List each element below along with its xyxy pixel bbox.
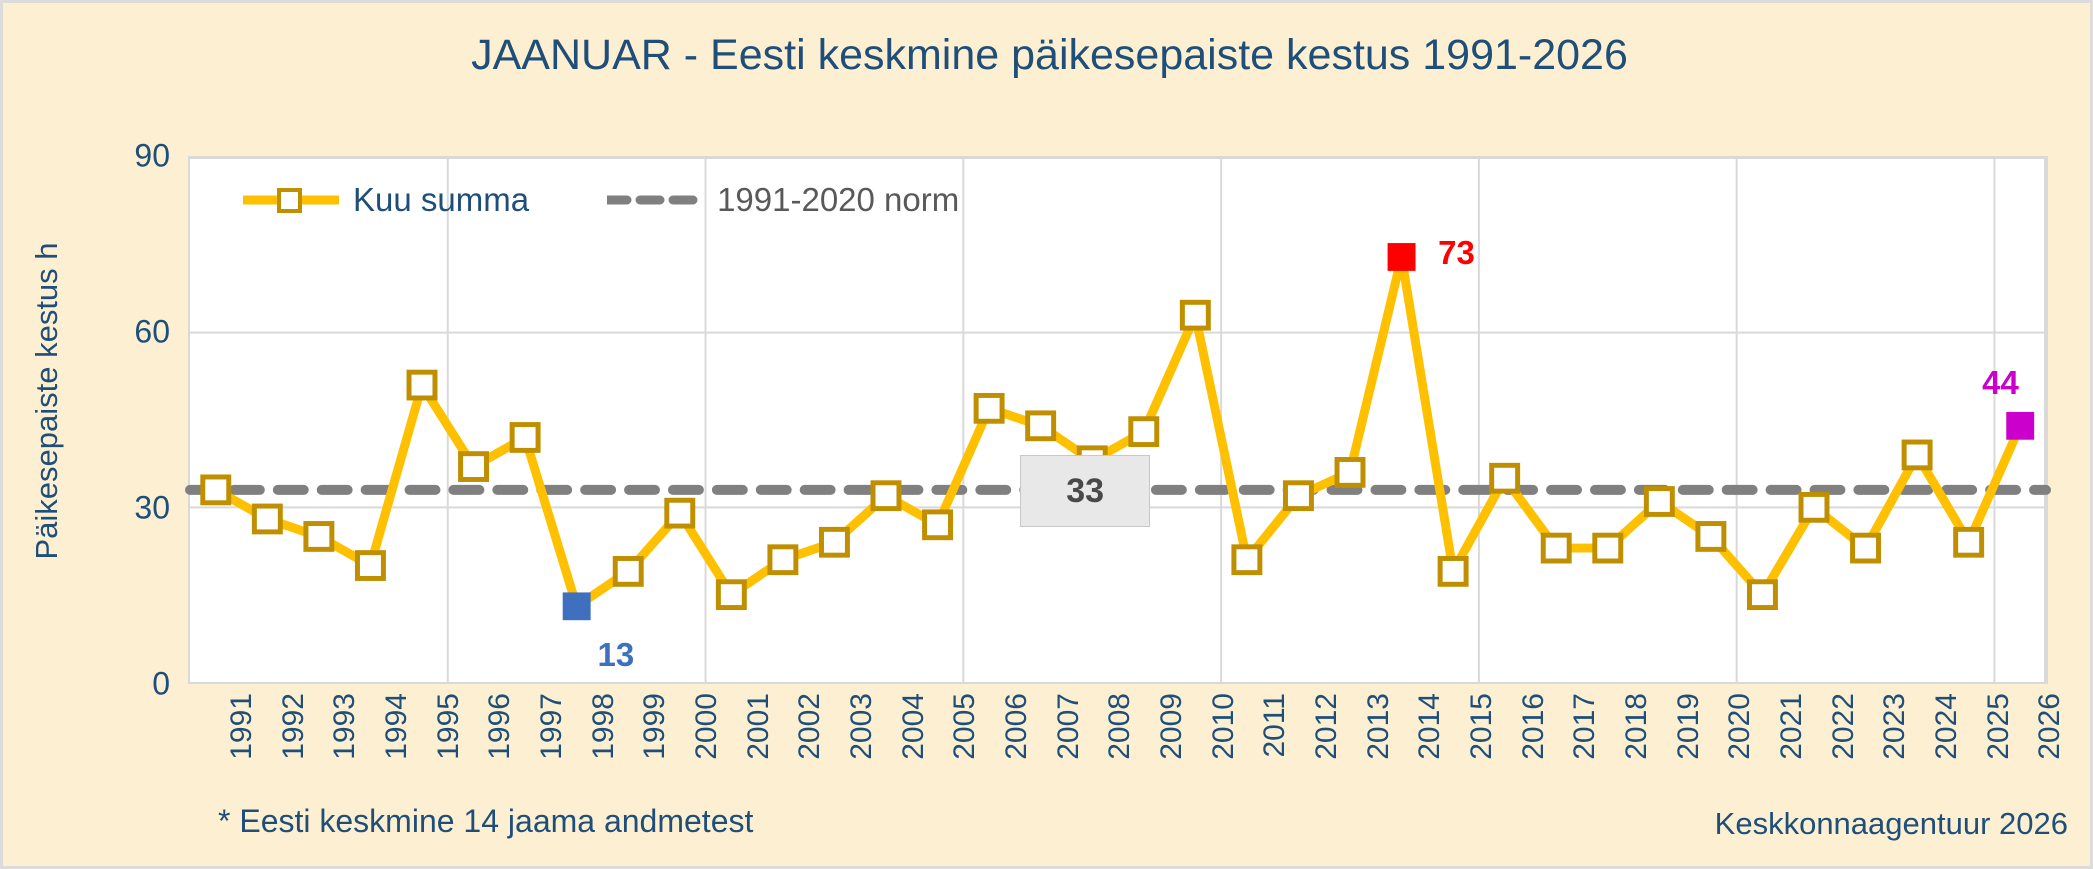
series-line-kuu-summa (216, 257, 2020, 606)
data-marker (461, 454, 487, 480)
y-tick-label: 0 (58, 666, 170, 703)
data-marker (1337, 459, 1363, 485)
data-marker (409, 372, 435, 398)
x-tick-label: 2011 (1258, 693, 1292, 758)
x-tick-label: 2020 (1723, 693, 1757, 760)
annotation-minimum-label: 13 (598, 636, 635, 674)
x-tick-label: 1991 (225, 693, 259, 760)
x-tick-label: 2013 (1362, 693, 1396, 760)
data-marker (615, 558, 641, 584)
x-tick-label: 1993 (328, 693, 362, 760)
plot-area (188, 156, 2048, 684)
data-marker (1182, 302, 1208, 328)
data-marker (925, 512, 951, 538)
data-marker (821, 529, 847, 555)
data-marker (203, 477, 229, 503)
x-tick-label: 2010 (1207, 693, 1241, 760)
y-tick-label: 30 (58, 490, 170, 527)
y-tick-label: 60 (58, 314, 170, 351)
x-tick-label: 2001 (742, 693, 776, 760)
sunshine-duration-chart: JAANUAR - Eesti keskmine päikesepaiste k… (0, 0, 2093, 869)
data-marker (1440, 558, 1466, 584)
x-tick-label: 2006 (1000, 693, 1034, 760)
x-tick-label: 2026 (2033, 693, 2067, 760)
x-tick-label: 1998 (587, 693, 621, 760)
x-tick-label: 2015 (1465, 693, 1499, 760)
data-marker (718, 582, 744, 608)
y-tick-label: 90 (58, 138, 170, 175)
data-marker (976, 395, 1002, 421)
x-tick-label: 1997 (535, 693, 569, 760)
data-marker (1698, 524, 1724, 550)
data-marker (1131, 419, 1157, 445)
x-axis-tick-labels: 1991199219931994199519961997199819992000… (188, 693, 2048, 803)
data-marker (1595, 535, 1621, 561)
norm-value-box: 33 (1020, 455, 1150, 527)
data-marker (1543, 535, 1569, 561)
footnote-left: * Eesti keskmine 14 jaama andmetest (218, 803, 753, 840)
x-tick-label: 1992 (277, 693, 311, 760)
legend-item-norm: 1991-2020 norm (607, 181, 959, 219)
data-marker-highlight-2014 (1389, 244, 1415, 270)
data-marker (1801, 494, 1827, 520)
x-tick-label: 2025 (1982, 693, 2016, 760)
data-marker (512, 425, 538, 451)
data-marker (1853, 535, 1879, 561)
footnote-right: Keskkonnaagentuur 2026 (1715, 806, 2068, 842)
legend-label-norm: 1991-2020 norm (717, 181, 959, 219)
legend-dashed-line-icon (607, 187, 703, 213)
x-tick-label: 2005 (948, 693, 982, 760)
annotation-current-label: 44 (1982, 364, 2019, 402)
data-marker (1646, 489, 1672, 515)
annotation-maximum-label: 73 (1438, 234, 1475, 272)
x-tick-label: 2004 (897, 693, 931, 760)
legend-label-kuu-summa: Kuu summa (353, 181, 529, 219)
x-tick-label: 2021 (1775, 693, 1809, 760)
legend-line-marker-icon (243, 187, 339, 213)
y-axis-tick-labels: 0306090 (58, 3, 170, 869)
x-tick-label: 1999 (638, 693, 672, 760)
x-tick-label: 2019 (1672, 693, 1706, 760)
chart-title: JAANUAR - Eesti keskmine päikesepaiste k… (3, 31, 2093, 80)
plot-svg (190, 158, 2046, 682)
x-tick-label: 2009 (1155, 693, 1189, 760)
data-marker (254, 506, 280, 532)
x-tick-label: 2012 (1310, 693, 1344, 760)
x-tick-label: 1995 (432, 693, 466, 760)
data-marker (873, 483, 899, 509)
x-tick-label: 2023 (1878, 693, 1912, 760)
data-marker (1492, 465, 1518, 491)
data-marker (1749, 582, 1775, 608)
data-marker-highlight-1998 (564, 593, 590, 619)
data-marker-highlight-2026 (2007, 413, 2033, 439)
chart-legend: Kuu summa 1991-2020 norm (243, 181, 959, 219)
x-tick-label: 2022 (1827, 693, 1861, 760)
x-tick-label: 2016 (1517, 693, 1551, 760)
legend-item-kuu-summa: Kuu summa (243, 181, 529, 219)
data-marker (1028, 413, 1054, 439)
x-tick-label: 2003 (845, 693, 879, 760)
data-marker (1956, 529, 1982, 555)
x-tick-label: 2000 (690, 693, 724, 760)
data-marker (667, 500, 693, 526)
x-tick-label: 1994 (380, 693, 414, 760)
data-marker (770, 547, 796, 573)
data-marker (1904, 442, 1930, 468)
x-tick-label: 2024 (1930, 693, 1964, 760)
x-tick-label: 2002 (793, 693, 827, 760)
x-tick-label: 2017 (1568, 693, 1602, 760)
x-tick-label: 2007 (1052, 693, 1086, 760)
x-tick-label: 2008 (1103, 693, 1137, 760)
x-tick-label: 2014 (1413, 693, 1447, 760)
x-tick-label: 1996 (483, 693, 517, 760)
data-marker (1234, 547, 1260, 573)
x-tick-label: 2018 (1620, 693, 1654, 760)
data-marker (357, 553, 383, 579)
data-marker (1285, 483, 1311, 509)
data-marker (306, 524, 332, 550)
